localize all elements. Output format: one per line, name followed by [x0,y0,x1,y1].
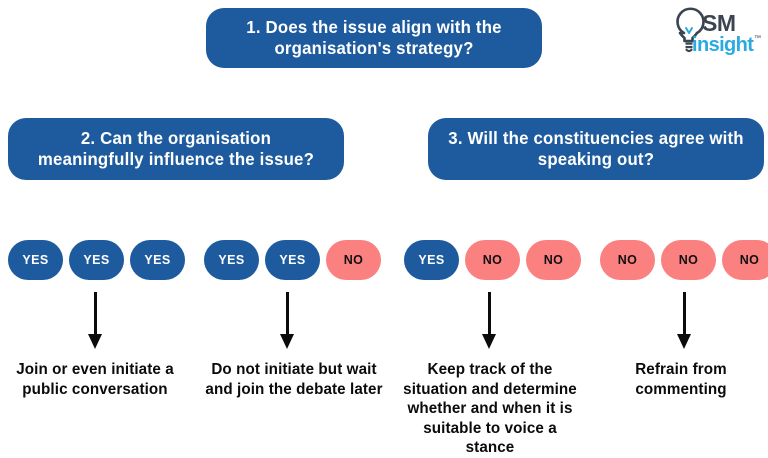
outcome-text: Refrain from commenting [600,360,762,399]
question-1-text: 1. Does the issue align with the organis… [226,17,522,58]
outcome-text: Do not initiate but wait and join the de… [203,360,385,399]
arrow-head [482,334,496,349]
outcome-label-1: Join or even initiate a public conversat… [2,360,188,399]
outcome-label-2: Do not initiate but wait and join the de… [198,360,390,399]
answer-pill: YES [404,240,459,280]
logo-text-sm: SM [702,10,736,36]
question-box-1: 1. Does the issue align with the organis… [206,8,542,68]
arrow-head [280,334,294,349]
outcome-text: Join or even initiate a public conversat… [7,360,184,399]
arrow-head [677,334,691,349]
arrow-head [88,334,102,349]
question-3-text: 3. Will the constituencies agree with sp… [448,128,744,169]
answer-pill: NO [465,240,520,280]
arrow-shaft [286,292,289,336]
answer-row-3: YES NO NO [404,240,581,280]
outcome-label-4: Refrain from commenting [596,360,766,399]
decision-flow-diagram: SM insight ™ 1. Does the issue align wit… [0,0,768,443]
answer-pill: NO [722,240,768,280]
arrow-shaft [683,292,686,336]
answer-row-4: NO NO NO [600,240,768,280]
answer-pill: YES [69,240,124,280]
arrow-shaft [94,292,97,336]
question-box-2: 2. Can the organisation meaningfully inf… [8,118,344,180]
answer-pill: NO [526,240,581,280]
flow-arrow-down-icon [675,292,695,350]
answer-pill: YES [130,240,185,280]
logo-artwork: SM insight ™ [666,6,764,58]
answer-pill: NO [326,240,381,280]
flow-arrow-down-icon [480,292,500,350]
answer-pill: YES [204,240,259,280]
answer-row-1: YES YES YES [8,240,185,280]
question-2-text: 2. Can the organisation meaningfully inf… [28,128,324,169]
sm-insight-logo: SM insight ™ [666,6,764,58]
logo-trademark: ™ [754,35,761,42]
logo-text-insight: insight [692,34,754,56]
question-box-3: 3. Will the constituencies agree with sp… [428,118,764,180]
flow-arrow-down-icon [86,292,106,350]
arrow-shaft [488,292,491,336]
answer-pill: NO [661,240,716,280]
answer-row-2: YES YES NO [204,240,381,280]
answer-pill: YES [8,240,63,280]
answer-pill: YES [265,240,320,280]
flow-arrow-down-icon [278,292,298,350]
answer-pill: NO [600,240,655,280]
